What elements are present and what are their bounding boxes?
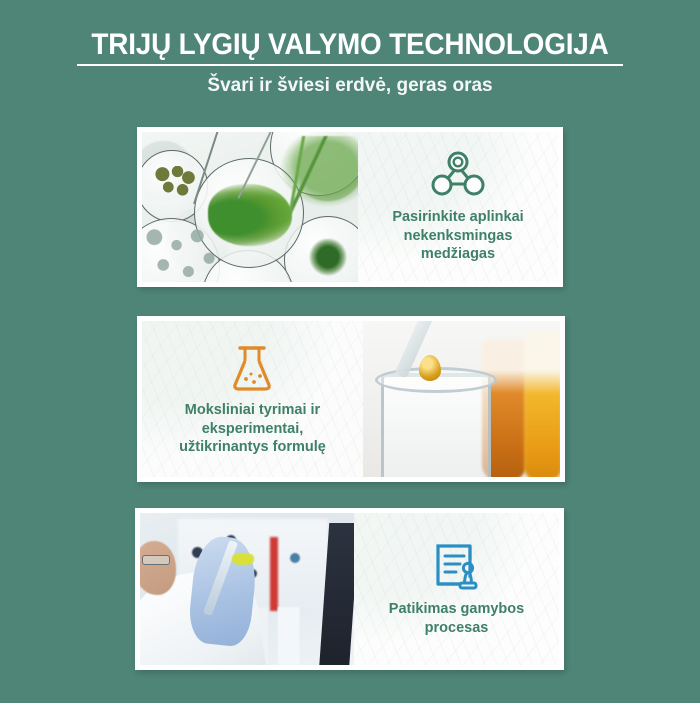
seed-specimens bbox=[154, 166, 196, 200]
feature-card-scientific-research[interactable]: Moksliniai tyrimai ir eksperimentai, užt… bbox=[137, 316, 565, 482]
page-title: TRIJŲ LYGIŲ VALYMO TECHNOLOGIJA bbox=[25, 0, 676, 61]
card-text-pane: Moksliniai tyrimai ir eksperimentai, užt… bbox=[142, 321, 363, 477]
petri-dishes-photo bbox=[142, 132, 358, 282]
card-label: Patikimas gamybos procesas bbox=[389, 600, 524, 637]
banner-header: TRIJŲ LYGIŲ VALYMO TECHNOLOGIJA Švari ir… bbox=[0, 0, 700, 98]
culture-specks bbox=[144, 224, 218, 282]
lab-scientist-photo bbox=[140, 513, 354, 665]
flask-icon bbox=[229, 341, 275, 393]
yellow-sample bbox=[232, 553, 254, 565]
clover-specimen bbox=[308, 238, 348, 276]
card-label: Pasirinkite aplinkai nekenksmingas medži… bbox=[392, 208, 523, 264]
promo-banner: TRIJŲ LYGIŲ VALYMO TECHNOLOGIJA Švari ir… bbox=[0, 0, 700, 703]
scientist-face bbox=[140, 541, 176, 595]
card-label: Moksliniai tyrimai ir eksperimentai, užt… bbox=[179, 401, 326, 457]
molecule-icon bbox=[429, 150, 487, 200]
certificate-stamp-icon bbox=[430, 540, 484, 592]
lab-knob bbox=[290, 553, 300, 563]
lab-red-stripe bbox=[270, 537, 278, 611]
liquid-drop bbox=[419, 355, 441, 381]
page-subtitle: Švari ir šviesi erdvė, geras oras bbox=[0, 66, 700, 98]
amber-test-tube bbox=[524, 331, 560, 477]
algae-specimen bbox=[208, 184, 292, 246]
pipette-beaker-photo bbox=[363, 321, 560, 477]
glasses-icon bbox=[142, 555, 170, 565]
feature-card-reliable-production[interactable]: Patikimas gamybos procesas bbox=[135, 508, 564, 670]
card-text-pane: Patikimas gamybos procesas bbox=[354, 513, 559, 665]
card-text-pane: Pasirinkite aplinkai nekenksmingas medži… bbox=[358, 132, 558, 282]
feature-card-eco-materials[interactable]: Pasirinkite aplinkai nekenksmingas medži… bbox=[137, 127, 563, 287]
